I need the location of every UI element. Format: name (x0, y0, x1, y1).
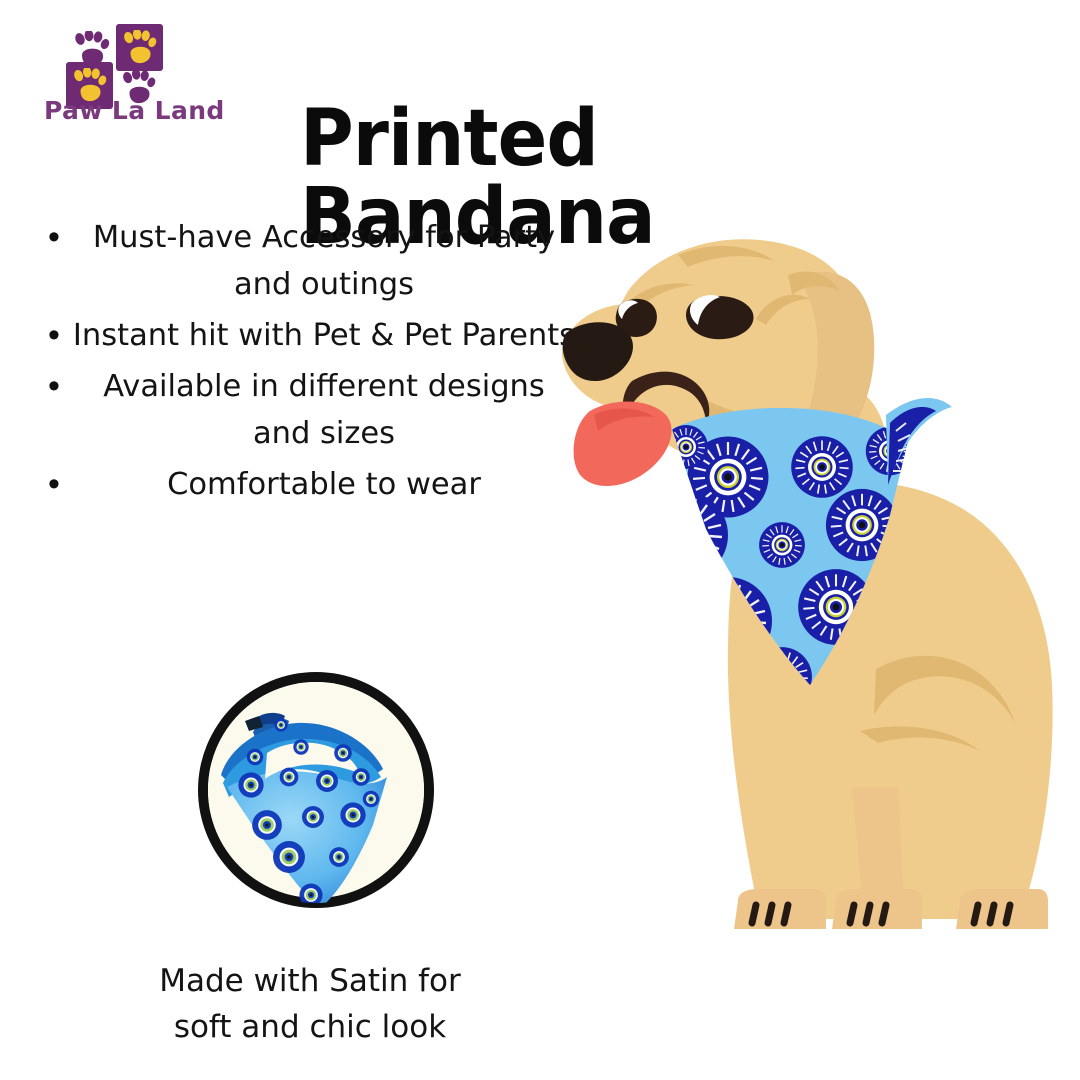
product-caption: Made with Satin for soft and chic look (60, 958, 560, 1050)
poster-canvas: Paw La Land Printed Bandana • Must-have … (0, 0, 1080, 1080)
bullet-icon: • (44, 214, 64, 261)
bullet-icon: • (44, 363, 64, 410)
dog-illustration (560, 215, 1080, 975)
product-photo-circle[interactable] (193, 657, 439, 923)
list-item: • Instant hit with Pet & Pet Parents (20, 312, 590, 359)
list-item: • Must-have Accessory for Party and outi… (20, 214, 590, 308)
feature-list: • Must-have Accessory for Party and outi… (20, 214, 590, 512)
caption-line-1: Made with Satin for (60, 958, 560, 1004)
brand-logo[interactable]: Paw La Land (44, 26, 219, 134)
list-item-label: Available in different designs and sizes (20, 363, 590, 457)
list-item: • Available in different designs and siz… (20, 363, 590, 457)
paw-prints-grid-icon (62, 26, 182, 100)
brand-name: Paw La Land (44, 96, 219, 125)
list-item-label: Must-have Accessory for Party and outing… (20, 214, 590, 308)
caption-line-2: soft and chic look (60, 1004, 560, 1050)
bullet-icon: • (44, 461, 64, 508)
list-item-label: Instant hit with Pet & Pet Parents (20, 312, 590, 359)
list-item-label: Comfortable to wear (20, 461, 590, 508)
bullet-icon: • (44, 312, 64, 359)
list-item: • Comfortable to wear (20, 461, 590, 508)
